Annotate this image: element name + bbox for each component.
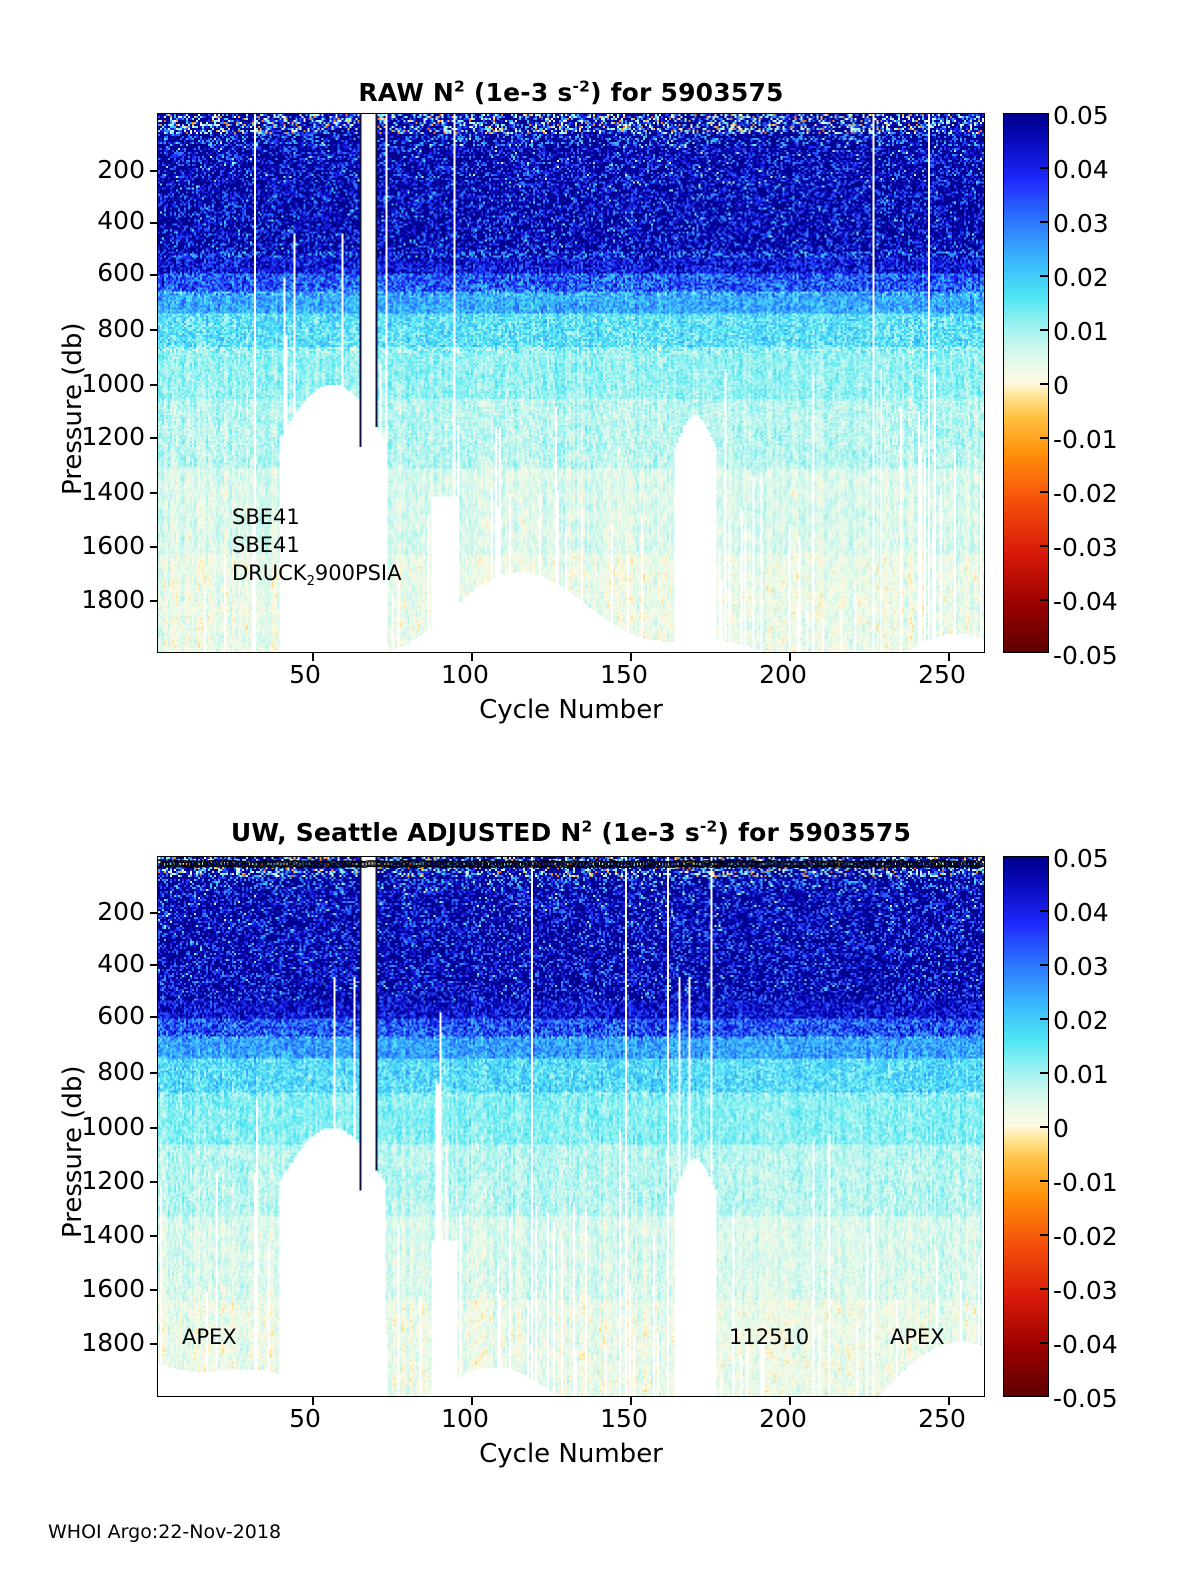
raw-title-sup1: 2 <box>454 78 465 96</box>
raw-cbtick-0: 0.05 <box>1053 101 1109 130</box>
adjusted-ytickmark-1400 <box>150 1235 157 1237</box>
raw-ytick-400: 400 <box>40 206 145 235</box>
adjusted-ytickmark-1800 <box>150 1343 157 1345</box>
adjusted-title-mid: (1e-3 s <box>592 818 699 847</box>
raw-cbtick-10: -0.05 <box>1053 641 1118 670</box>
raw-plot-title: RAW N2 (1e-3 s-2) for 5903575 <box>157 78 985 107</box>
raw-annotation-druck: DRUCK2900PSIA <box>232 561 402 585</box>
raw-ytickmark-200 <box>150 170 157 172</box>
raw-cbtickmark-7 <box>1040 491 1049 493</box>
raw-annotation-sbe41-2: SBE41 <box>232 533 300 557</box>
adjusted-title-sup2: -2 <box>700 818 718 836</box>
raw-cbtick-8: -0.03 <box>1053 533 1118 562</box>
raw-ytickmark-1400 <box>150 492 157 494</box>
adjusted-xtickmark-250 <box>948 1397 950 1405</box>
adjusted-cbtick-2: 0.03 <box>1053 952 1109 981</box>
raw-cbtickmark-6 <box>1040 437 1049 439</box>
raw-title-prefix: RAW N <box>358 78 454 107</box>
adjusted-cbtick-1: 0.04 <box>1053 898 1109 927</box>
adjusted-xtickmark-150 <box>630 1397 632 1405</box>
adjusted-title-prefix: UW, Seattle ADJUSTED N <box>231 818 582 847</box>
raw-cbtickmark-2 <box>1040 221 1049 223</box>
raw-cbtickmark-8 <box>1040 545 1049 547</box>
adjusted-ytickmark-800 <box>150 1072 157 1074</box>
raw-annotation-druck-prefix: DRUCK <box>232 561 307 585</box>
raw-ytick-800: 800 <box>40 314 145 343</box>
adjusted-ytickmark-400 <box>150 964 157 966</box>
raw-xtickmark-200 <box>789 653 791 661</box>
raw-ytickmark-1800 <box>150 600 157 602</box>
raw-cbtickmark-4 <box>1040 329 1049 331</box>
adjusted-ytickmark-1200 <box>150 1181 157 1183</box>
raw-cbtick-9: -0.04 <box>1053 587 1118 616</box>
adjusted-title-suffix: ) for 5903575 <box>718 818 912 847</box>
raw-cbtickmark-3 <box>1040 275 1049 277</box>
raw-xtickmark-250 <box>948 653 950 661</box>
adjusted-ytick-800: 800 <box>40 1057 145 1086</box>
adjusted-heatmap-canvas <box>158 857 984 1396</box>
adjusted-cbtick-4: 0.01 <box>1053 1060 1109 1089</box>
adjusted-ytickmark-600 <box>150 1016 157 1018</box>
adjusted-ytickmark-200 <box>150 912 157 914</box>
raw-ytickmark-1600 <box>150 546 157 548</box>
adjusted-flag-marker-row <box>158 857 984 871</box>
raw-xtick-50: 50 <box>265 660 345 689</box>
raw-ytick-600: 600 <box>40 258 145 287</box>
adjusted-cbtick-9: -0.04 <box>1053 1330 1118 1359</box>
adjusted-xtick-100: 100 <box>419 1404 511 1433</box>
adjusted-x-axis-label: Cycle Number <box>157 1439 985 1469</box>
raw-cbtick-5: 0 <box>1053 371 1069 400</box>
raw-ytick-200: 200 <box>40 155 145 184</box>
raw-xtickmark-50 <box>312 653 314 661</box>
raw-cbtickmark-9 <box>1040 599 1049 601</box>
adjusted-ytick-200: 200 <box>40 897 145 926</box>
raw-xtick-150: 150 <box>578 660 670 689</box>
adjusted-ytickmark-1000 <box>150 1127 157 1129</box>
raw-xtick-250: 250 <box>896 660 988 689</box>
raw-cbtick-4: 0.01 <box>1053 317 1109 346</box>
raw-ytick-1600: 1600 <box>25 531 145 560</box>
adjusted-xtick-150: 150 <box>578 1404 670 1433</box>
raw-cbtick-3: 0.02 <box>1053 263 1109 292</box>
adjusted-annotation-apex-left: APEX <box>182 1325 237 1349</box>
adjusted-annotation-apex-right: APEX <box>890 1325 945 1349</box>
raw-cbtick-7: -0.02 <box>1053 479 1118 508</box>
adjusted-ytick-600: 600 <box>40 1001 145 1030</box>
raw-ytick-1800: 1800 <box>25 585 145 614</box>
adjusted-xtick-250: 250 <box>896 1404 988 1433</box>
raw-cbtickmark-1 <box>1040 167 1049 169</box>
raw-ytickmark-1200 <box>150 437 157 439</box>
adjusted-annotation-serial: 112510 <box>729 1325 809 1349</box>
raw-x-axis-label: Cycle Number <box>157 695 985 725</box>
adjusted-cbtickmark-5 <box>1040 1126 1049 1128</box>
adjusted-cbtick-3: 0.02 <box>1053 1006 1109 1035</box>
raw-xtick-200: 200 <box>737 660 829 689</box>
adjusted-xtickmark-50 <box>312 1397 314 1405</box>
adjusted-heatmap-axes[interactable] <box>157 856 985 1397</box>
adjusted-cbtick-0: 0.05 <box>1053 844 1109 873</box>
adjusted-xtick-200: 200 <box>737 1404 829 1433</box>
raw-ytickmark-1000 <box>150 384 157 386</box>
raw-title-sup2: -2 <box>572 78 590 96</box>
raw-ytickmark-600 <box>150 274 157 276</box>
adjusted-plot-title: UW, Seattle ADJUSTED N2 (1e-3 s-2) for 5… <box>157 818 985 847</box>
adjusted-cbtickmark-9 <box>1040 1342 1049 1344</box>
raw-cbtick-6: -0.01 <box>1053 425 1118 454</box>
raw-xtickmark-150 <box>630 653 632 661</box>
adjusted-cbtick-7: -0.02 <box>1053 1222 1118 1251</box>
adjusted-xtick-50: 50 <box>265 1404 345 1433</box>
adjusted-flag-marker-canvas <box>158 857 984 871</box>
raw-cbtick-2: 0.03 <box>1053 209 1109 238</box>
adjusted-cbtick-10: -0.05 <box>1053 1384 1118 1413</box>
adjusted-y-axis-label: Pressure (db) <box>58 1065 88 1238</box>
adjusted-cbtickmark-8 <box>1040 1288 1049 1290</box>
adjusted-title-sup1: 2 <box>581 818 592 836</box>
adjusted-cbtickmark-1 <box>1040 910 1049 912</box>
adjusted-cbtick-6: -0.01 <box>1053 1168 1118 1197</box>
adjusted-ytick-1600: 1600 <box>25 1274 145 1303</box>
raw-annotation-druck-suffix: 900PSIA <box>315 561 402 585</box>
raw-annotation-sbe41-1: SBE41 <box>232 505 300 529</box>
adjusted-xtickmark-200 <box>789 1397 791 1405</box>
raw-ytickmark-800 <box>150 329 157 331</box>
raw-xtickmark-100 <box>471 653 473 661</box>
raw-title-mid: (1e-3 s <box>465 78 572 107</box>
adjusted-ytick-400: 400 <box>40 949 145 978</box>
raw-cbtick-1: 0.04 <box>1053 155 1109 184</box>
adjusted-cbtick-5: 0 <box>1053 1114 1069 1143</box>
adjusted-cbtickmark-6 <box>1040 1180 1049 1182</box>
adjusted-cbtickmark-4 <box>1040 1072 1049 1074</box>
raw-annotation-druck-sub: 2 <box>307 574 315 589</box>
adjusted-cbtickmark-2 <box>1040 964 1049 966</box>
raw-ytickmark-400 <box>150 222 157 224</box>
adjusted-xtickmark-100 <box>471 1397 473 1405</box>
adjusted-ytickmark-1600 <box>150 1289 157 1291</box>
adjusted-cbtick-8: -0.03 <box>1053 1276 1118 1305</box>
adjusted-cbtickmark-3 <box>1040 1018 1049 1020</box>
figure-footer: WHOI Argo:22-Nov-2018 <box>48 1521 281 1543</box>
raw-cbtickmark-5 <box>1040 383 1049 385</box>
adjusted-ytick-1800: 1800 <box>25 1328 145 1357</box>
raw-y-axis-label: Pressure (db) <box>58 322 88 495</box>
raw-xtick-100: 100 <box>419 660 511 689</box>
raw-title-suffix: ) for 5903575 <box>590 78 784 107</box>
adjusted-cbtickmark-7 <box>1040 1234 1049 1236</box>
